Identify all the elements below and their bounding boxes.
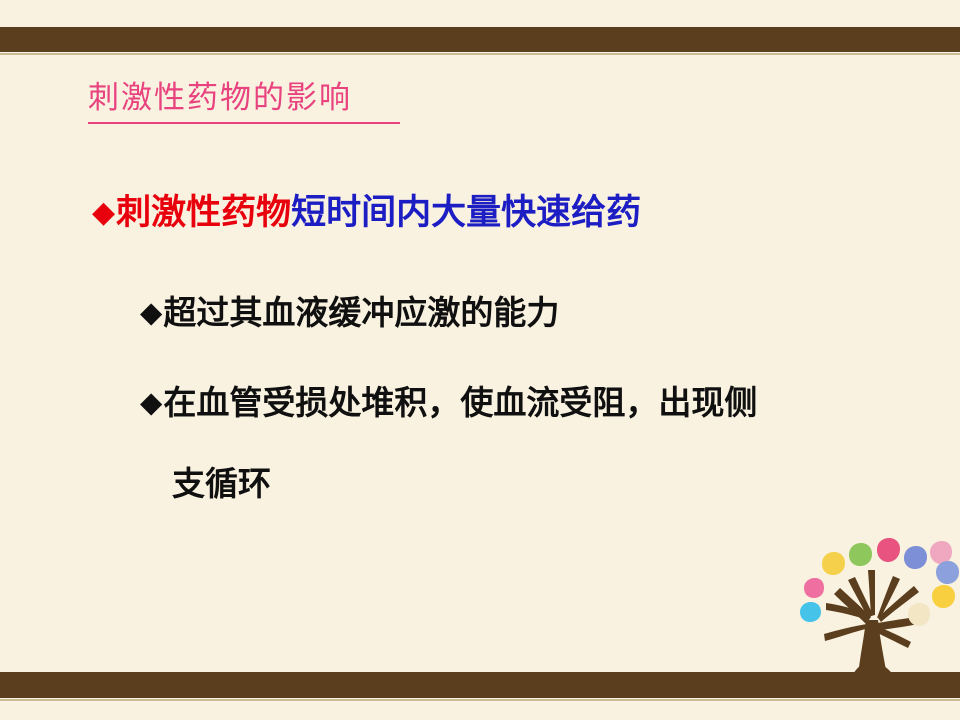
diamond-bullet-icon: ◆	[140, 295, 162, 329]
tree-illustration	[782, 528, 960, 676]
bullet-1-segment-red: 刺激性药物	[116, 193, 291, 233]
bullet-item-1: ◆刺激性药物短时间内大量快速给药	[92, 190, 641, 236]
bullet-3-text: 在血管受损处堆积，使血流受阻，出现侧	[163, 383, 757, 422]
blossom-green	[849, 543, 872, 566]
blossom-cream	[908, 603, 930, 626]
slide-canvas: 刺激性药物的影响 ◆刺激性药物短时间内大量快速给药 ◆超过其血液缓冲应激的能力 …	[0, 0, 960, 720]
tree-trunk-and-branches	[824, 570, 924, 676]
top-decorative-bar	[0, 27, 960, 52]
blossom-lightpink	[930, 541, 952, 564]
blossom-yellow	[822, 552, 845, 575]
blossom-pink	[877, 538, 900, 562]
bullet-item-2: ◆超过其血液缓冲应激的能力	[140, 290, 559, 335]
page-title: 刺激性药物的影响	[88, 78, 352, 118]
blossom-periwinkle	[904, 546, 927, 569]
blossom-cyan	[800, 602, 821, 622]
bullet-2-text: 超过其血液缓冲应激的能力	[163, 293, 559, 332]
blossom-magenta	[804, 578, 824, 598]
bottom-decorative-bar	[0, 672, 960, 698]
diamond-bullet-icon: ◆	[92, 195, 115, 230]
blossom-blue	[936, 561, 959, 584]
bullet-3-continuation-text: 支循环	[172, 462, 271, 506]
page-title-underline	[88, 122, 400, 124]
diamond-bullet-icon: ◆	[140, 385, 162, 419]
bottom-bar-hairline	[0, 699, 960, 701]
top-bar-hairline	[0, 53, 960, 55]
blossom-gold	[932, 585, 955, 608]
bullet-1-segment-blue: 短时间内大量快速给药	[291, 193, 641, 233]
bullet-item-3: ◆在血管受损处堆积，使血流受阻，出现侧	[140, 380, 757, 425]
